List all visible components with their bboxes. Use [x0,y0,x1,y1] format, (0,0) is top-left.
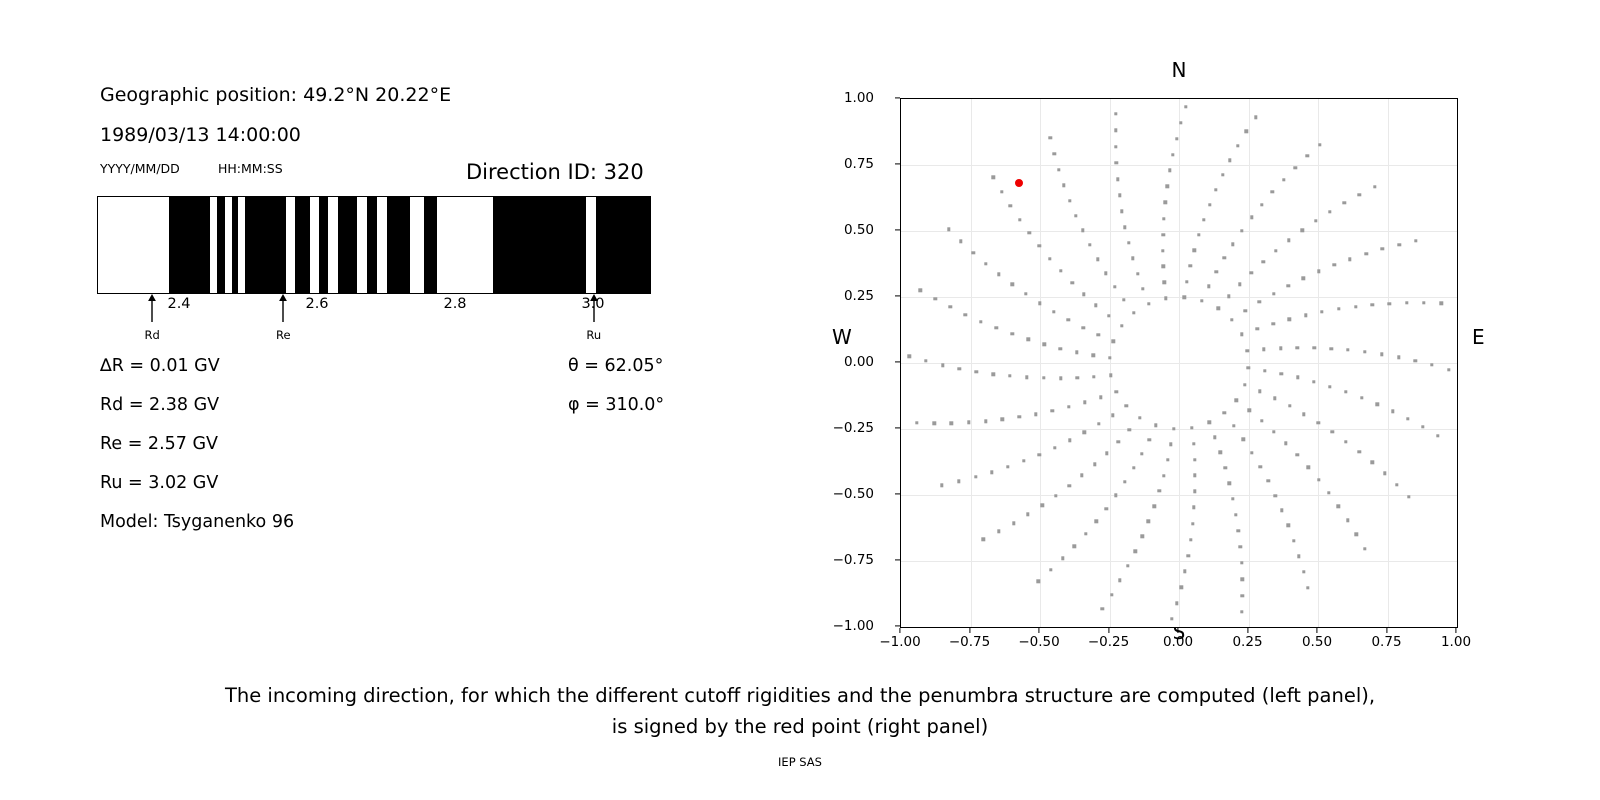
direction-dot [1242,438,1245,441]
direction-dot [1158,489,1161,492]
direction-dot [1245,130,1248,133]
direction-dot [1306,586,1309,589]
direction-dot [1197,233,1200,236]
y-tick-mark [895,493,900,494]
x-tick-mark [1455,628,1456,633]
direction-dot [1099,396,1102,399]
penumbra-band [424,197,437,293]
direction-dot [959,239,962,242]
x-tick-label: −0.75 [949,634,990,650]
direction-dot [1166,458,1169,461]
direction-dot [1232,424,1235,427]
direction-dot [1043,343,1046,346]
direction-dot [1175,602,1178,605]
gridline-horizontal [901,231,1457,232]
gridline-horizontal [901,363,1457,364]
direction-dot [1302,413,1305,416]
caption-line-1: The incoming direction, for which the di… [0,680,1600,711]
direction-dot [932,422,935,425]
direction-dot [1136,272,1139,275]
x-tick-mark [1386,628,1387,633]
direction-dot [1193,458,1196,461]
direction-dot [1215,270,1218,273]
selected-direction-marker[interactable] [1015,179,1023,187]
direction-dot [1414,239,1417,242]
direction-dot [1163,281,1166,284]
y-tick-mark [895,559,900,560]
direction-dot [1109,374,1112,377]
direction-dot [1280,372,1283,375]
direction-dot [1391,410,1394,413]
direction-dot [1093,463,1096,466]
geographic-position-label: Geographic position: 49.2°N 20.22°E [100,84,451,106]
penumbra-band [245,197,286,293]
direction-dot [1414,359,1417,362]
direction-dot [1192,506,1195,509]
direction-dot [1018,218,1021,221]
footer-credit: IEP SAS [0,755,1600,769]
param-delta-r: ∆R = 0.01 GV [100,356,220,376]
datetime-label: 1989/03/13 14:00:00 [100,124,301,146]
direction-dot [1059,269,1062,272]
x-tick-mark [1247,628,1248,633]
direction-dot [1131,257,1134,260]
direction-dot [1202,218,1205,221]
direction-dot [1346,518,1349,521]
direction-dot [1095,520,1098,523]
direction-dot [1272,292,1275,295]
direction-dot [1274,494,1277,497]
compass-label-west: W [832,325,852,349]
direction-dot [1114,112,1117,115]
direction-dot [1180,586,1183,589]
direction-dot [1219,451,1222,454]
direction-dot [1008,374,1011,377]
direction-dot [1092,375,1095,378]
y-tick-mark [895,229,900,230]
direction-dot [941,363,944,366]
direction-dot [1186,554,1189,557]
direction-dot [1034,413,1037,416]
direction-dot [1128,428,1131,431]
direction-dot [1287,239,1290,242]
direction-dot [1170,617,1173,620]
penumbra-band [493,197,586,293]
direction-dot [1280,509,1283,512]
param-phi: φ = 310.0° [568,395,664,415]
direction-dot [924,359,927,362]
direction-dot [1152,505,1155,508]
direction-dot [997,530,1000,533]
direction-dot [1006,465,1009,468]
direction-dot [1355,533,1358,536]
direction-dot [1051,409,1054,412]
penumbra-marker-arrow [588,294,599,322]
y-tick-label: −0.25 [833,420,874,436]
direction-dot [1168,169,1171,172]
direction-dot [1114,129,1117,132]
param-ru: Ru = 3.02 GV [100,473,218,493]
direction-dot [1292,539,1295,542]
direction-dot [1101,607,1104,610]
direction-dot [1228,482,1231,485]
direction-dot [1436,434,1439,437]
direction-dot [997,273,1000,276]
y-tick-label: 0.50 [844,222,874,238]
y-tick-label: 0.00 [844,354,874,370]
direction-dot [1126,564,1129,567]
direction-dot [990,470,993,473]
direction-dot [1049,568,1052,571]
direction-dot [979,320,982,323]
direction-dot [982,538,985,541]
direction-dot [1300,229,1303,232]
direction-dot [1363,547,1366,550]
direction-dot [1067,484,1070,487]
direction-dot [1302,277,1305,280]
penumbra-band [232,197,238,293]
direction-dot [1053,446,1056,449]
direction-dot [1094,303,1097,306]
penumbra-panel: Geographic position: 49.2°N 20.22°E 1989… [0,0,760,660]
y-tick-label: −0.75 [833,552,874,568]
direction-dot [1052,310,1055,313]
y-tick-label: 0.25 [844,288,874,304]
direction-dot [1263,369,1266,372]
direction-dot [1223,466,1226,469]
direction-dot [1207,285,1210,288]
direction-dot [1318,143,1321,146]
gridline-horizontal [901,165,1457,166]
direction-dot [1287,524,1290,527]
direction-dot [1358,193,1361,196]
penumbra-marker-label: Re [276,328,291,342]
direction-dot [1373,185,1376,188]
direction-dot [1259,465,1262,468]
direction-dot [1070,281,1073,284]
direction-dot [1223,256,1226,259]
direction-dot [1329,347,1332,350]
direction-dot [915,421,918,424]
direction-dot [1227,294,1230,297]
direction-dot [1254,116,1257,119]
direction-dot [1364,252,1367,255]
direction-dot [1236,144,1239,147]
direction-dot [1024,292,1027,295]
direction-dot [1116,178,1119,181]
direction-dot [1422,301,1425,304]
direction-dot [1113,285,1116,288]
direction-dot [1381,247,1384,250]
direction-dot [1183,570,1186,573]
direction-dot [1162,474,1165,477]
penumbra-band [387,197,410,293]
direction-dot [1208,203,1211,206]
direction-dot [1127,241,1130,244]
direction-dot [1084,532,1087,535]
gridline-horizontal [901,429,1457,430]
direction-dot [1312,380,1315,383]
direction-dot [1287,284,1290,287]
direction-dot [1247,366,1250,369]
y-tick-mark [895,163,900,164]
direction-dot [975,370,978,373]
y-tick-label: 1.00 [844,90,874,106]
direction-dot [1116,440,1119,443]
penumbra-marker-arrow [278,294,289,322]
penumbra-tick-label: 2.8 [443,296,466,312]
direction-dot [1074,214,1077,217]
y-tick-mark [895,625,900,626]
direction-dot [1272,430,1275,433]
penumbra-band [169,197,210,293]
direction-dot [940,484,943,487]
direction-dot [1304,314,1307,317]
direction-dot [1213,436,1216,439]
direction-dot [1038,301,1041,304]
direction-dot [1192,442,1195,445]
direction-dot [1221,173,1224,176]
direction-dot [1076,376,1079,379]
direction-dot [1027,231,1030,234]
direction-dot [1216,307,1219,310]
direction-dot [1075,351,1078,354]
direction-dot [1191,522,1194,525]
direction-dot [1317,421,1320,424]
direction-dot [1140,452,1143,455]
caption-line-2: is signed by the red point (right panel) [0,711,1600,742]
direction-dot [1154,424,1157,427]
direction-dot [1122,298,1125,301]
direction-dot [1088,243,1091,246]
direction-dot [1327,491,1330,494]
direction-dot [1439,301,1442,304]
sky-map-panel: N S W E −1.00−0.75−0.50−0.250.000.250.50… [820,40,1520,660]
penumbra-band [338,197,357,293]
direction-dot [1250,271,1253,274]
direction-dot [1238,283,1241,286]
direction-dot [1147,438,1150,441]
direction-dot [1179,121,1182,124]
param-re: Re = 2.57 GV [100,434,218,454]
direction-dot [1328,385,1331,388]
direction-dot [1240,561,1243,564]
direction-dot [1421,425,1424,428]
compass-label-east: E [1472,325,1485,349]
direction-dot [1010,283,1013,286]
direction-dot [1161,249,1164,252]
direction-dot [1370,461,1373,464]
direction-dot [1059,347,1062,350]
direction-dot [1407,495,1410,498]
direction-dot [1357,450,1360,453]
direction-dot [1243,383,1246,386]
direction-dot [1246,349,1249,352]
direction-dot [1105,452,1108,455]
direction-dot [1241,594,1244,597]
direction-dot [1120,324,1123,327]
direction-dot [1344,390,1347,393]
penumbra-band [596,197,650,293]
direction-dot [1258,300,1261,303]
direction-dot [1026,513,1029,516]
direction-dot [1162,265,1165,268]
direction-dot [1248,409,1251,412]
direction-dot [1132,311,1135,314]
direction-dot [1125,404,1128,407]
direction-dot [1284,442,1287,445]
direction-dot [1320,310,1323,313]
direction-dot [1061,557,1064,560]
penumbra-marker-label: Ru [586,328,601,342]
direction-dot [1115,161,1118,164]
direction-dot [1110,593,1113,596]
direction-dot [1010,332,1013,335]
direction-dot [1138,416,1141,419]
gridline-horizontal [901,297,1457,298]
direction-dot [1036,580,1039,583]
direction-dot [1169,443,1172,446]
x-tick-mark [1108,628,1109,633]
direction-dot [1306,466,1309,469]
direction-dot [1331,430,1334,433]
direction-dot [1262,260,1265,263]
direction-dot [1147,302,1150,305]
direction-dot [1260,203,1263,206]
direction-dot [1244,309,1247,312]
direction-dot [1371,303,1374,306]
direction-dot [1025,376,1028,379]
direction-dot [1241,577,1244,580]
direction-dot [1054,494,1057,497]
time-format-hint: HH:MM:SS [218,161,283,176]
penumbra-bar-chart [97,196,651,294]
direction-dot [1038,453,1041,456]
gridline-horizontal [901,495,1457,496]
x-tick-label: 0.50 [1302,634,1332,650]
direction-dot [1313,346,1316,349]
x-tick-mark [899,628,900,633]
direction-dot [1346,348,1349,351]
direction-dot [1049,136,1052,139]
direction-dot [1164,296,1167,299]
direction-dot [1271,322,1274,325]
direction-dot [947,228,950,231]
direction-dot [1164,201,1167,204]
direction-dot [957,480,960,483]
direction-dot [1114,494,1117,497]
direction-dot [1296,346,1299,349]
direction-dot [1118,579,1121,582]
direction-dot [1266,479,1269,482]
direction-dot [1193,490,1196,493]
direction-dot [1354,305,1357,308]
direction-dot [1171,153,1174,156]
direction-dot [1288,404,1291,407]
direction-dot [1166,185,1169,188]
direction-dot [1297,555,1300,558]
penumbra-band [217,197,225,293]
direction-dot [1112,340,1115,343]
direction-dot [1091,354,1094,357]
direction-dot [1397,356,1400,359]
direction-dot [974,475,977,478]
direction-dot [1123,225,1126,228]
y-tick-mark [895,361,900,362]
direction-dot [1190,426,1193,429]
direction-id-label: Direction ID: 320 [466,160,644,184]
direction-dot [1375,403,1378,406]
direction-dot [1228,158,1231,161]
direction-dot [1118,194,1121,197]
direction-dot [1231,243,1234,246]
y-tick-label: −1.00 [833,618,874,634]
x-tick-label: 1.00 [1441,634,1471,650]
direction-dot [1328,210,1331,213]
direction-dot [1274,249,1277,252]
direction-dot [1193,474,1196,477]
direction-dot [1256,327,1259,330]
x-tick-label: 0.75 [1371,634,1401,650]
direction-dot [1405,301,1408,304]
direction-dot [1141,287,1144,290]
direction-dot [964,313,967,316]
direction-dot [1108,356,1111,359]
direction-dot [958,367,961,370]
figure-caption: The incoming direction, for which the di… [0,680,1600,742]
direction-dot [1231,497,1234,500]
direction-dot [1240,333,1243,336]
penumbra-band [295,197,310,293]
direction-dot [1111,414,1114,417]
direction-dot [1240,229,1243,232]
direction-dot [1083,401,1086,404]
direction-dot [1296,453,1299,456]
direction-dot [1042,376,1045,379]
direction-dot [1082,292,1085,295]
direction-dot [991,372,994,375]
direction-dot [1235,398,1238,401]
direction-dot [1262,347,1265,350]
direction-dot [1447,368,1450,371]
direction-dot [1406,417,1409,420]
direction-dot [1230,318,1233,321]
direction-dot [1059,376,1062,379]
direction-dot [1009,204,1012,207]
direction-dot [1200,299,1203,302]
x-tick-label: 0.25 [1232,634,1262,650]
direction-dot [1067,405,1070,408]
direction-dot [1081,229,1084,232]
direction-dot [1271,190,1274,193]
compass-label-north: N [1172,58,1187,82]
direction-dot [1048,257,1051,260]
y-tick-mark [895,97,900,98]
direction-dot [950,421,953,424]
direction-dot [1120,210,1123,213]
x-tick-label: −0.50 [1018,634,1059,650]
direction-dot [919,289,922,292]
x-tick-label: −0.25 [1088,634,1129,650]
direction-dot [1096,258,1099,261]
direction-dot [1097,422,1100,425]
direction-dot [1282,178,1285,181]
direction-dot [1383,472,1386,475]
direction-dot [1193,249,1196,252]
direction-dot [948,305,951,308]
direction-dot [1302,570,1305,573]
param-rd: Rd = 2.38 GV [100,395,219,415]
